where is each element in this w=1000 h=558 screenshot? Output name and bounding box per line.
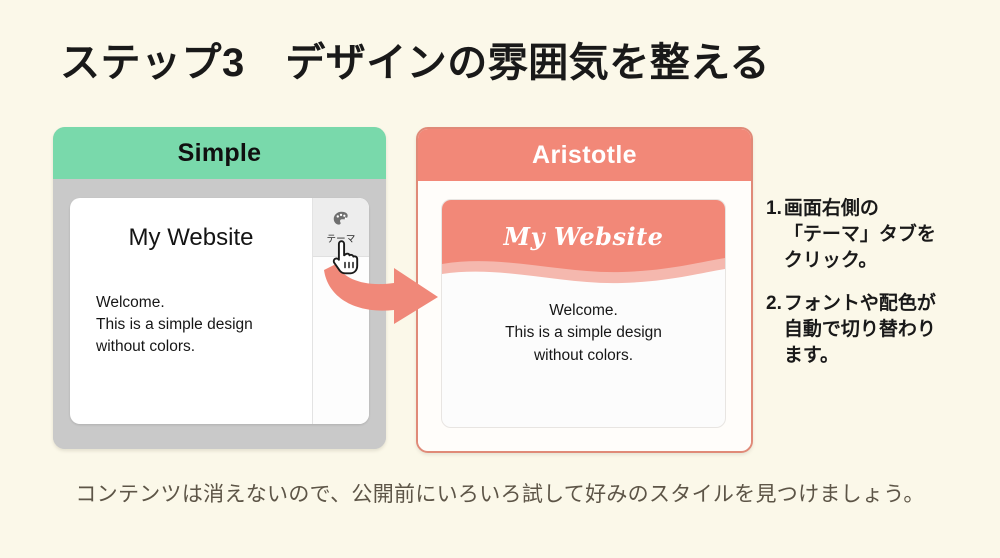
wave-divider-icon <box>442 258 725 292</box>
step-text: 画面右側の 「テーマ」タブを クリック。 <box>784 196 988 275</box>
slide-caption: コンテンツは消えないので、公開前にいろいろ試して好みのスタイルを見つけましょう。 <box>0 478 1000 508</box>
list-item: 1. 画面右側の 「テーマ」タブを クリック。 <box>766 196 988 275</box>
preview-heading-themed: My Website <box>442 222 725 251</box>
preview-content-plain: My Website Welcome. This is a simple des… <box>70 198 312 424</box>
panel-after-body: My Website Welcome. This is a simple des… <box>418 181 751 447</box>
preview-body-themed: Welcome. This is a simple design without… <box>442 300 725 367</box>
preview-heading-plain: My Website <box>70 224 312 252</box>
curved-right-arrow-icon <box>320 252 450 332</box>
page-title: ステップ3 デザインの雰囲気を整える <box>60 40 770 86</box>
sidebar-tab-theme[interactable]: テーマ <box>313 198 369 257</box>
panel-after-header: Aristotle <box>418 129 751 181</box>
panel-after-header-label: Aristotle <box>532 141 637 170</box>
step-number: 2. <box>766 291 782 317</box>
panel-before-header: Simple <box>53 127 386 179</box>
panel-after-aristotle: Aristotle My Website Welcome. This is a … <box>416 127 753 453</box>
slide-canvas: ステップ3 デザインの雰囲気を整える Simple My Website Wel… <box>0 0 1000 558</box>
palette-icon <box>332 210 351 229</box>
preview-hero-themed: My Website <box>442 200 725 276</box>
preview-body-plain: Welcome. This is a simple design without… <box>96 292 253 358</box>
panel-before-header-label: Simple <box>178 139 262 168</box>
step-text: フォントや配色が 自動で切り替わり ます。 <box>784 291 988 370</box>
browser-preview-themed: My Website Welcome. This is a simple des… <box>441 199 726 428</box>
sidebar-tab-theme-label: テーマ <box>326 231 355 245</box>
list-item: 2. フォントや配色が 自動で切り替わり ます。 <box>766 291 988 370</box>
steps-list: 1. 画面右側の 「テーマ」タブを クリック。 2. フォントや配色が 自動で切… <box>766 196 988 385</box>
step-number: 1. <box>766 196 782 222</box>
